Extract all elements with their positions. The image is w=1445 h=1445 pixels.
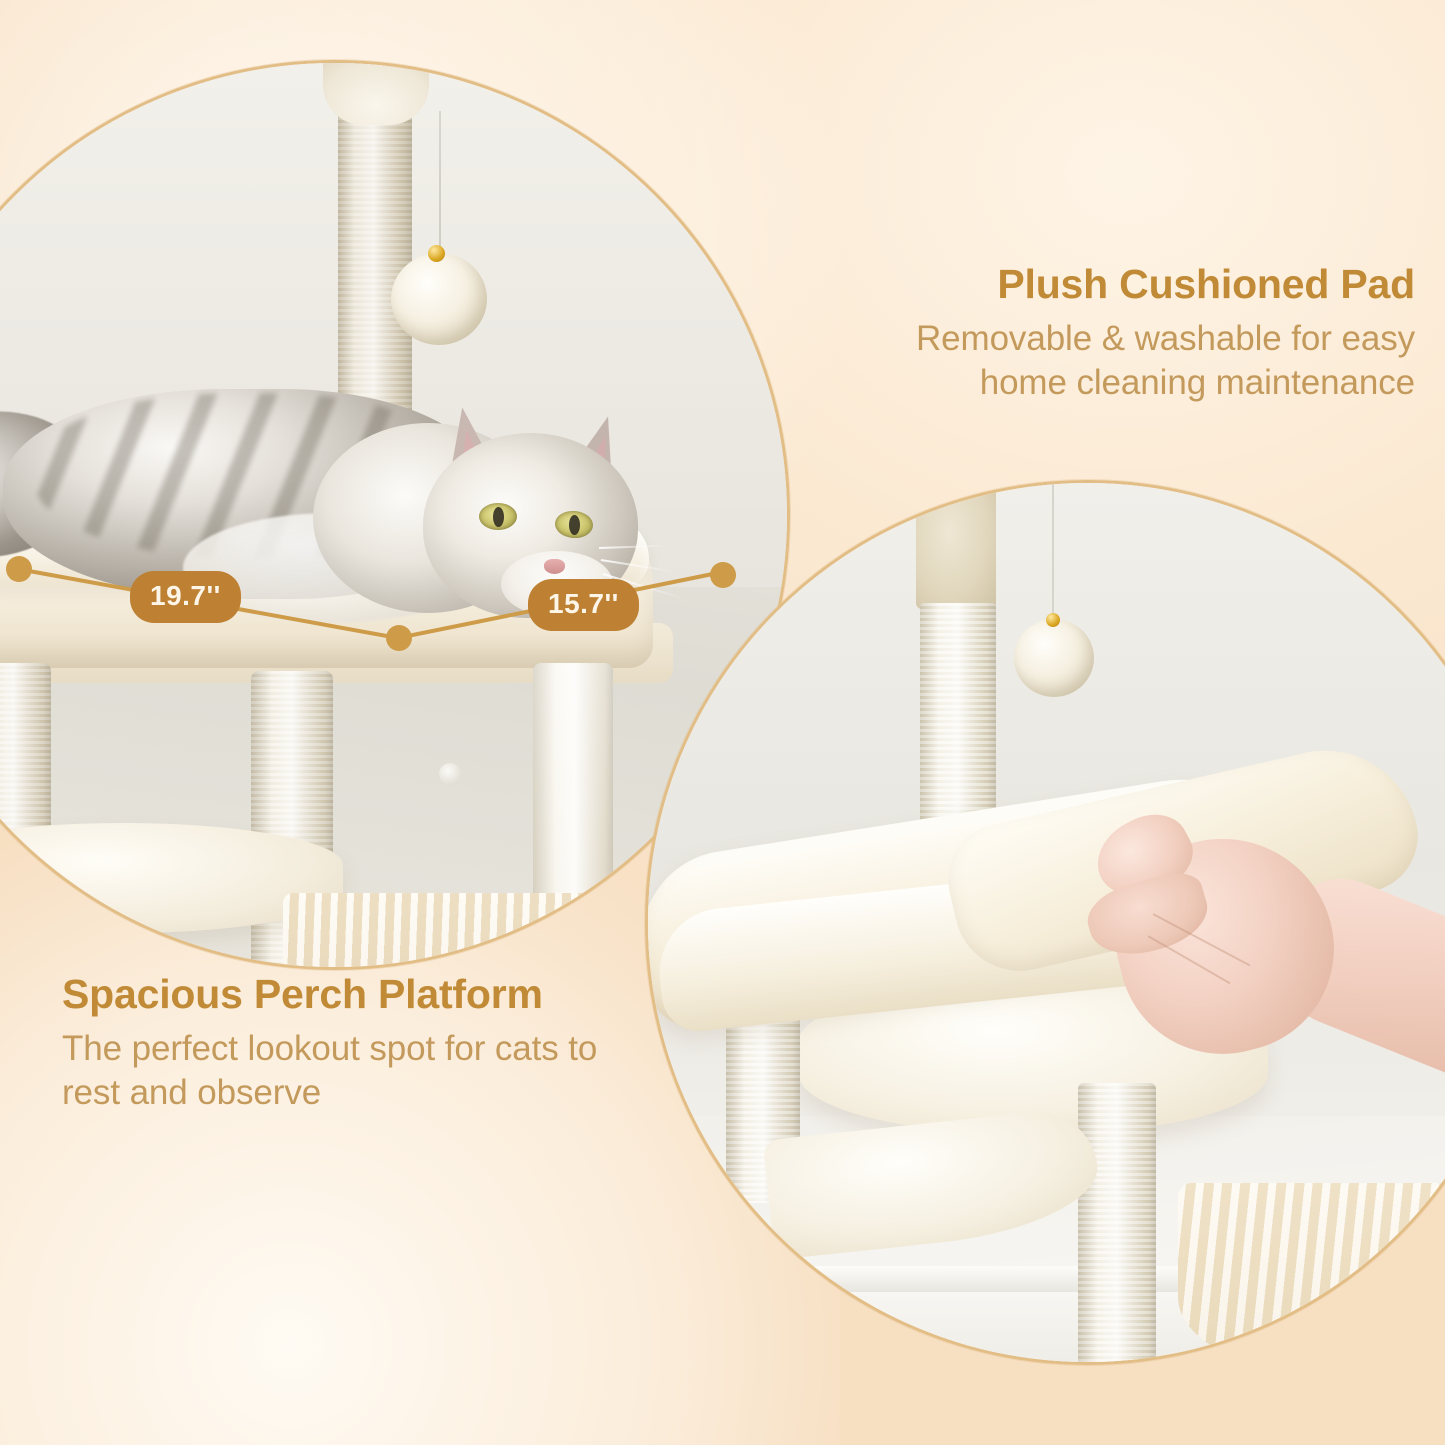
feature-title-plush-pad: Plush Cushioned Pad	[843, 262, 1415, 308]
bell-icon	[1046, 613, 1060, 627]
pompom-toy-icon	[391, 253, 487, 345]
post-plush-cap	[323, 63, 429, 125]
toy-string	[439, 111, 441, 261]
pad-room-scene	[648, 483, 1445, 1362]
wall-mount-plate	[439, 763, 461, 785]
measurement-badge-depth: 15.7''	[528, 579, 639, 631]
pad-leg-right	[1078, 1083, 1156, 1365]
cat-pupil-right	[569, 515, 580, 535]
feature-block-perch: Spacious Perch Platform The perfect look…	[62, 972, 622, 1116]
product-infographic-poster: 19.7'' 15.7''	[0, 0, 1445, 1445]
hammock-bed	[283, 893, 663, 970]
photo-plush-pad-circle	[645, 480, 1445, 1365]
measurement-badge-width: 19.7''	[130, 571, 241, 623]
pad-hammock	[1178, 1183, 1445, 1365]
cat-pupil-left	[493, 507, 504, 527]
feature-description-plush-pad: Removable & washable for easy home clean…	[843, 317, 1415, 406]
pad-post-top	[916, 481, 996, 609]
bell-icon	[428, 245, 445, 262]
cat-nose	[544, 559, 565, 574]
feature-description-perch: The perfect lookout spot for cats to res…	[62, 1027, 622, 1116]
pompom-toy-icon	[1014, 619, 1094, 697]
feature-block-plush-pad: Plush Cushioned Pad Removable & washable…	[843, 262, 1415, 406]
pad-lower-step	[763, 1106, 1104, 1260]
feature-title-perch: Spacious Perch Platform	[62, 972, 622, 1018]
